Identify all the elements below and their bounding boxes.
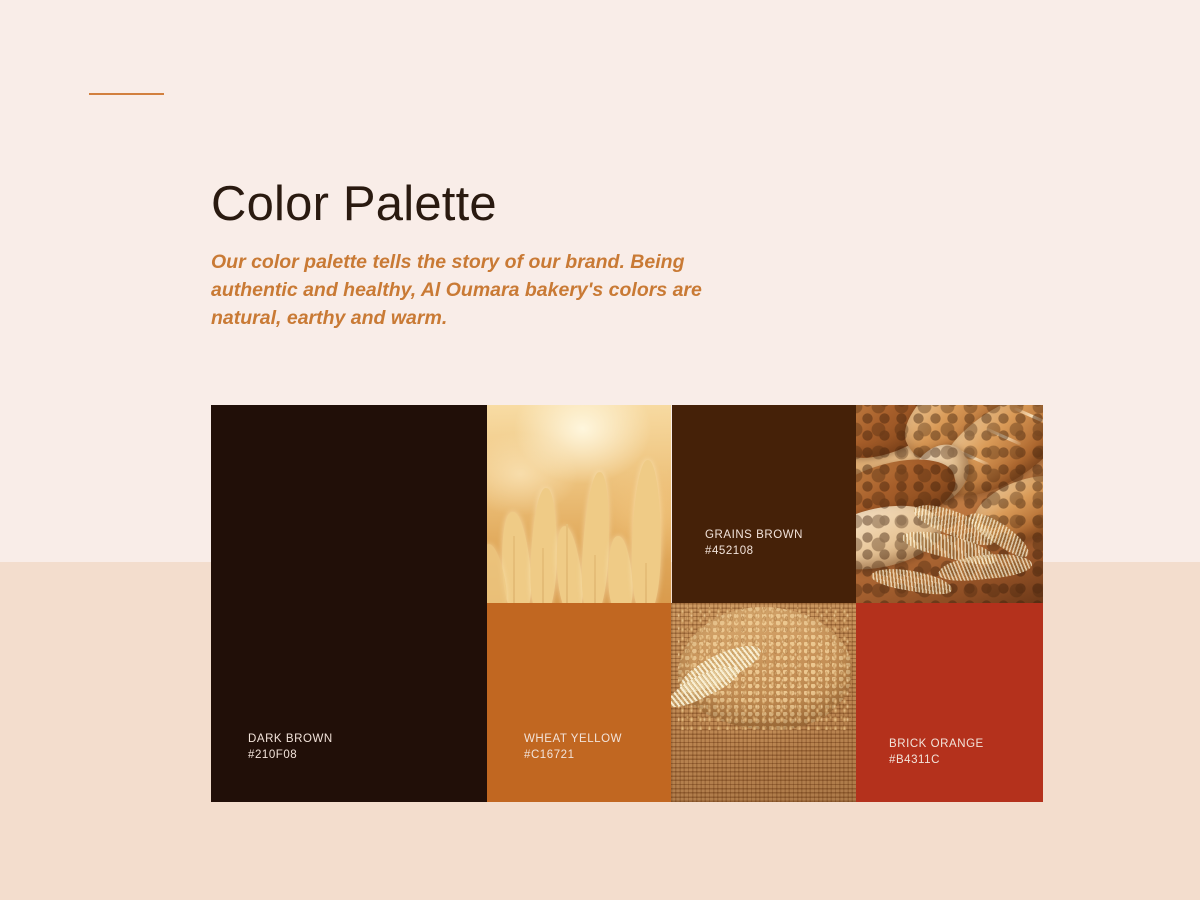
photo-wheat-field <box>487 405 671 603</box>
swatch-label-brick-orange: BRICK ORANGE #B4311C <box>889 737 984 768</box>
swatch-name-wheat-yellow: WHEAT YELLOW <box>524 733 622 745</box>
heading-block: Color Palette Our color palette tells th… <box>211 178 771 332</box>
swatch-grains-brown[interactable]: GRAINS BROWN #452108 <box>672 405 856 603</box>
accent-rule-divider <box>89 93 164 95</box>
swatch-name-dark-brown: DARK BROWN <box>248 733 333 745</box>
swatch-hex-brick-orange: #B4311C <box>889 753 984 768</box>
wheat-field-artwork <box>487 405 671 603</box>
page-subtitle: Our color palette tells the story of our… <box>211 248 703 332</box>
swatch-name-grains-brown: GRAINS BROWN <box>705 529 803 541</box>
swatch-name-brick-orange: BRICK ORANGE <box>889 738 984 750</box>
swatch-brick-orange[interactable]: BRICK ORANGE #B4311C <box>856 603 1043 802</box>
swatch-dark-brown[interactable]: DARK BROWN #210F08 <box>211 405 487 802</box>
swatch-wheat-yellow[interactable]: WHEAT YELLOW #C16721 <box>487 603 671 802</box>
swatch-hex-grains-brown: #452108 <box>705 544 803 559</box>
swatch-hex-dark-brown: #210F08 <box>248 748 333 763</box>
palette-grid: DARK BROWN #210F08 GRAINS BROWN #452108 <box>211 405 1043 802</box>
swatch-label-grains-brown: GRAINS BROWN #452108 <box>705 528 803 559</box>
bread-artwork <box>856 405 1043 603</box>
photo-grain-sack <box>671 603 856 802</box>
swatch-label-wheat-yellow: WHEAT YELLOW #C16721 <box>524 732 622 763</box>
photo-bread <box>856 405 1043 603</box>
swatch-label-dark-brown: DARK BROWN #210F08 <box>248 732 333 763</box>
grain-sack-artwork <box>671 603 856 802</box>
page-title: Color Palette <box>211 178 771 231</box>
swatch-hex-wheat-yellow: #C16721 <box>524 748 622 763</box>
